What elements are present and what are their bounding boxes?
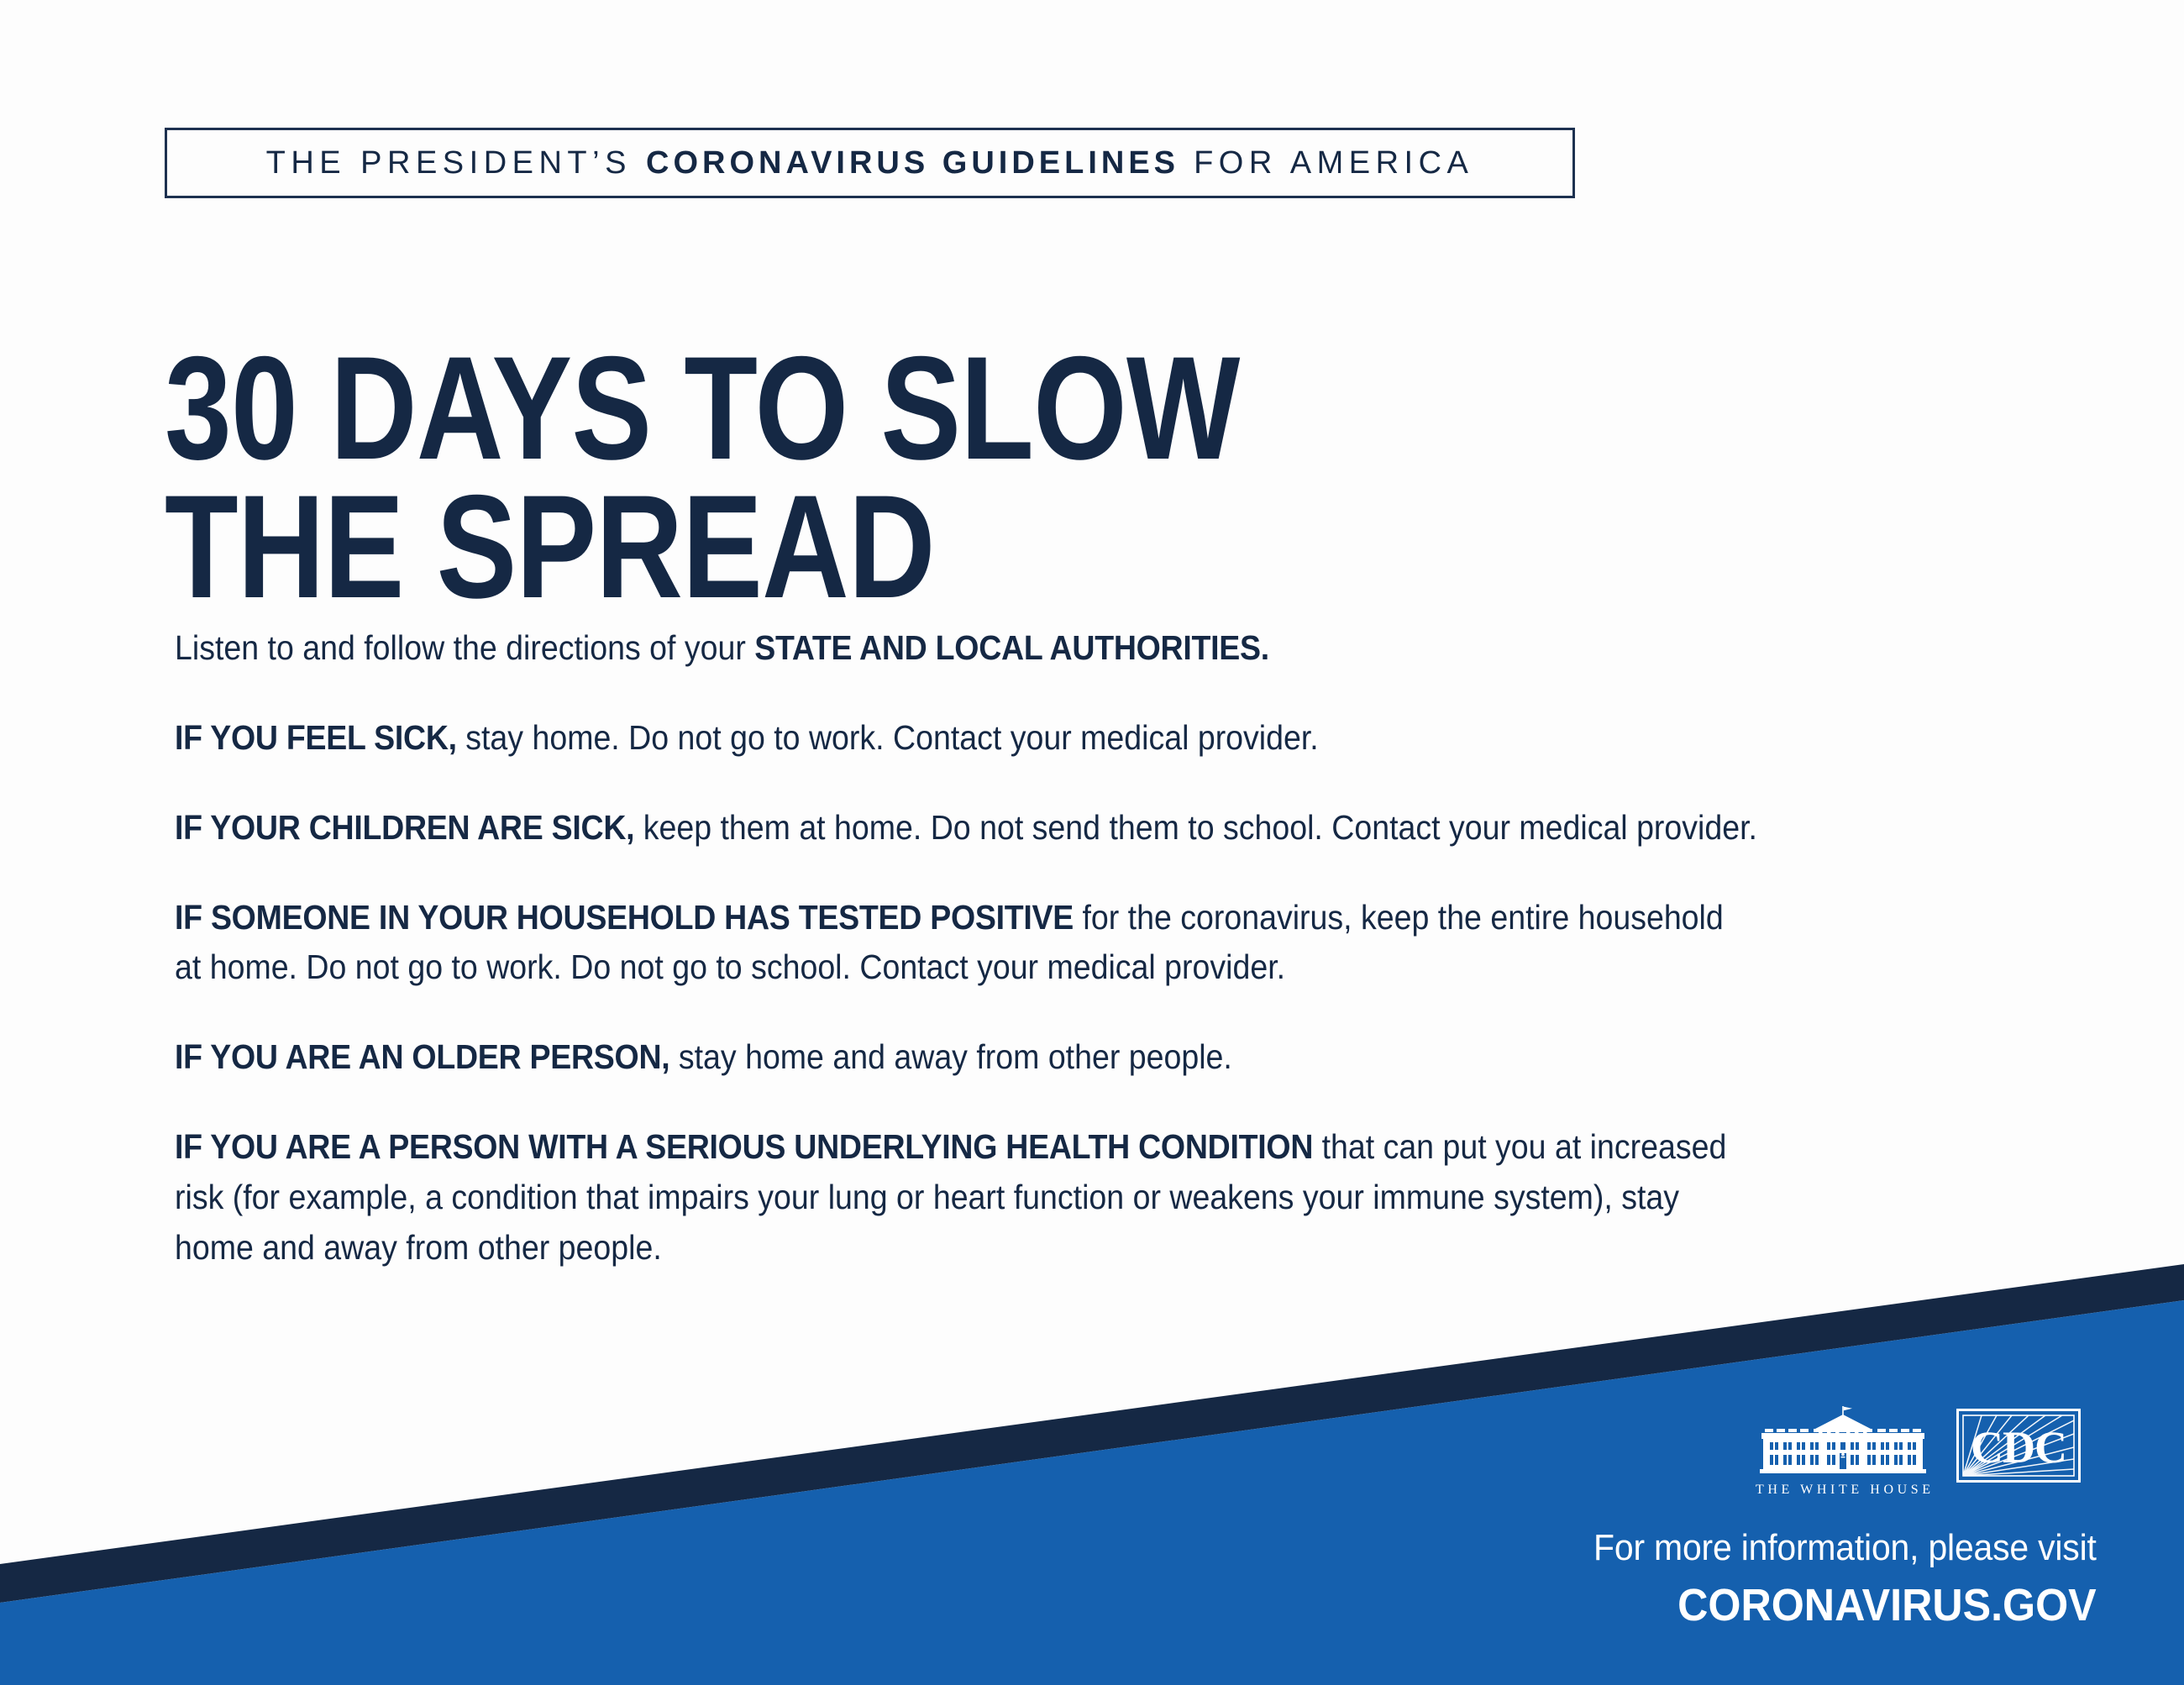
footer-more-info-text: For more information, please visit [1593, 1527, 2097, 1569]
header-banner-text: THE PRESIDENT’S CORONAVIRUS GUIDELINES F… [266, 145, 1474, 181]
guideline-rest: stay home and away from other people. [669, 1037, 1231, 1076]
title-line-1: 30 DAYS TO SLOW [165, 340, 1240, 479]
guideline-item: IF YOU ARE AN OLDER PERSON, stay home an… [175, 1032, 1758, 1083]
guideline-bold: IF SOMEONE IN YOUR HOUSEHOLD HAS TESTED … [175, 898, 1074, 937]
footer-call-to-action: For more information, please visit CORON… [1556, 1527, 2097, 1631]
header-prefix: THE PRESIDENT’S [266, 145, 646, 181]
guideline-item: Listen to and follow the directions of y… [175, 623, 1758, 674]
white-house-building-icon [1760, 1404, 1926, 1477]
guideline-rest: keep them at home. Do not send them to s… [634, 808, 1757, 847]
cdc-wordmark: CDC [1971, 1422, 2066, 1472]
guideline-item: IF SOMEONE IN YOUR HOUSEHOLD HAS TESTED … [175, 893, 1758, 994]
guideline-bold: IF YOU ARE A PERSON WITH A SERIOUS UNDER… [175, 1127, 1313, 1166]
guideline-item: IF YOU ARE A PERSON WITH A SERIOUS UNDER… [175, 1122, 1758, 1273]
footer-logo-group: THE WHITE HOUSE [1760, 1404, 2081, 1498]
title-line-2: THE SPREAD [165, 479, 1240, 617]
header-emphasis: CORONAVIRUS GUIDELINES [646, 145, 1179, 181]
poster-canvas: THE PRESIDENT’S CORONAVIRUS GUIDELINES F… [0, 0, 2184, 1685]
guideline-bold: STATE AND LOCAL AUTHORITIES. [754, 628, 1269, 667]
guideline-bold: IF YOU FEEL SICK, [175, 718, 457, 757]
white-house-logo: THE WHITE HOUSE [1760, 1404, 1926, 1498]
header-suffix: FOR AMERICA [1179, 145, 1473, 181]
guideline-lead: Listen to and follow the directions of y… [175, 628, 754, 667]
cdc-logo-icon: CDC [1956, 1409, 2081, 1483]
guideline-bold: IF YOU ARE AN OLDER PERSON, [175, 1037, 669, 1076]
guidelines-list: Listen to and follow the directions of y… [175, 623, 1758, 1273]
guideline-bold: IF YOUR CHILDREN ARE SICK, [175, 808, 634, 847]
footer-url[interactable]: CORONAVIRUS.GOV [1593, 1579, 2097, 1631]
white-house-caption: THE WHITE HOUSE [1751, 1483, 1934, 1498]
page-title: 30 DAYS TO SLOWTHE SPREAD [165, 340, 1240, 617]
guideline-item: IF YOU FEEL SICK, stay home. Do not go t… [175, 713, 1758, 764]
guideline-rest: stay home. Do not go to work. Contact yo… [457, 718, 1319, 757]
cdc-logo: CDC [1956, 1404, 2081, 1487]
guideline-item: IF YOUR CHILDREN ARE SICK, keep them at … [175, 803, 1758, 853]
header-banner-box: THE PRESIDENT’S CORONAVIRUS GUIDELINES F… [165, 128, 1575, 198]
